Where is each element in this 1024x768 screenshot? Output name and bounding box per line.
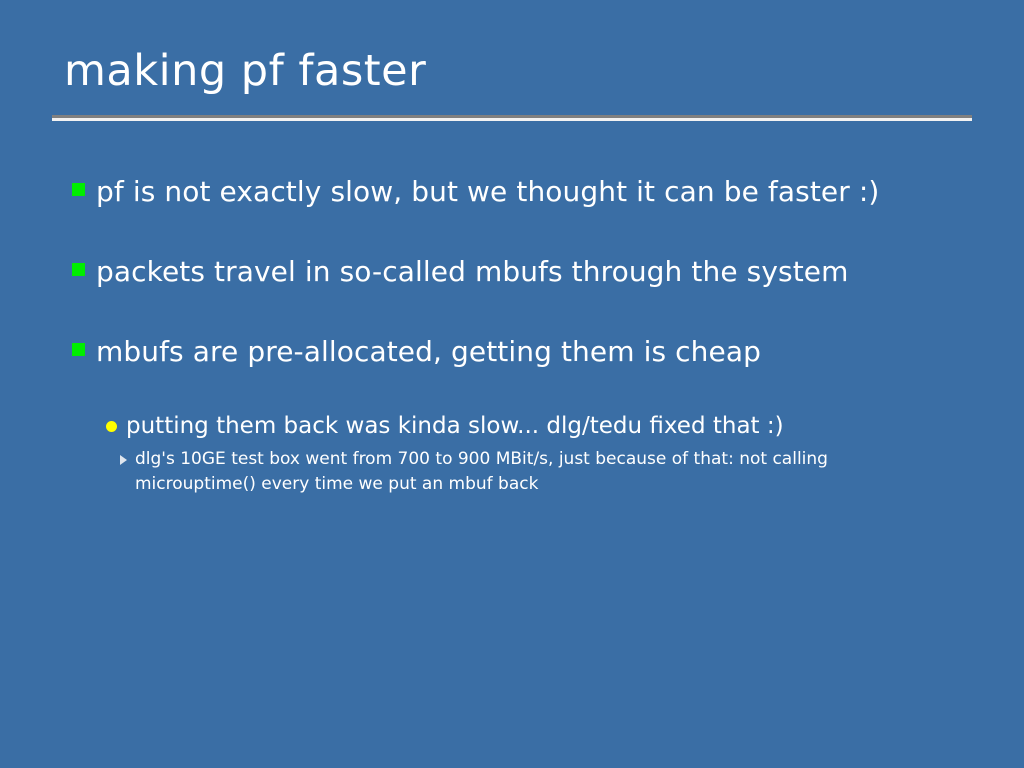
bullet-item-level1: packets travel in so-called mbufs throug…	[72, 252, 972, 292]
bullet-item-level1: pf is not exactly slow, but we thought i…	[72, 172, 972, 212]
circle-bullet-icon	[106, 421, 117, 432]
square-bullet-icon	[72, 343, 85, 356]
bullet-text: packets travel in so-called mbufs throug…	[96, 252, 848, 292]
triangle-bullet-icon	[120, 455, 127, 465]
square-bullet-icon	[72, 263, 85, 276]
sub-bullet-group: putting them back was kinda slow... dlg/…	[72, 411, 972, 498]
bullet-text: mbufs are pre-allocated, getting them is…	[96, 332, 761, 372]
title-block: making pf faster	[52, 46, 972, 97]
page-title: making pf faster	[64, 46, 972, 97]
title-divider	[52, 115, 972, 121]
bullet-text: dlg's 10GE test box went from 700 to 900…	[135, 447, 880, 498]
bullet-item-level1: mbufs are pre-allocated, getting them is…	[72, 332, 972, 372]
slide-body: pf is not exactly slow, but we thought i…	[72, 172, 972, 498]
square-bullet-icon	[72, 183, 85, 196]
bullet-item-level3: dlg's 10GE test box went from 700 to 900…	[120, 447, 972, 498]
bullet-text: pf is not exactly slow, but we thought i…	[96, 172, 879, 212]
bullet-item-level2: putting them back was kinda slow... dlg/…	[106, 411, 972, 443]
bullet-text: putting them back was kinda slow... dlg/…	[126, 411, 784, 443]
presentation-slide: making pf faster pf is not exactly slow,…	[0, 0, 1024, 768]
